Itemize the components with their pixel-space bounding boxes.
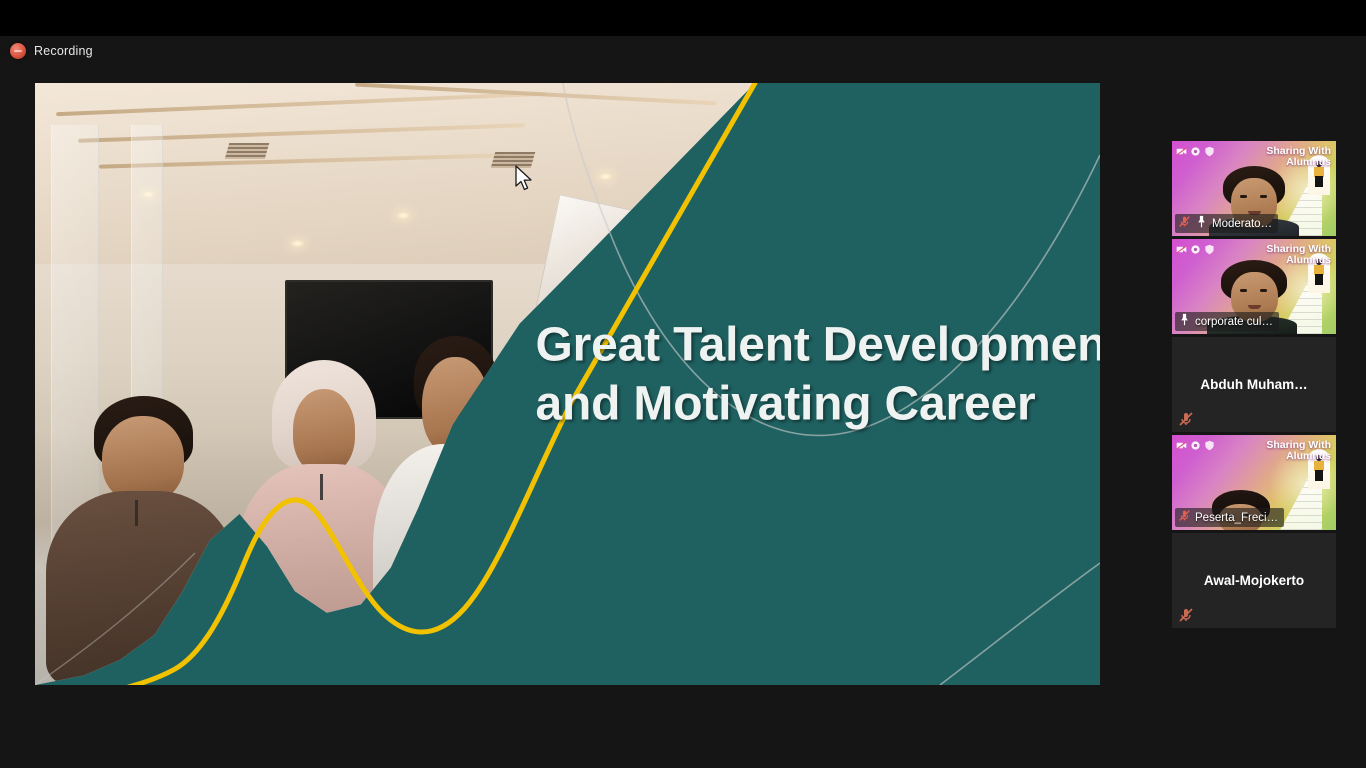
mic-muted-icon xyxy=(1178,607,1194,623)
recording-label: Recording xyxy=(34,44,93,58)
presentation-slide: Great Talent Development and Motivating … xyxy=(35,83,1100,685)
participant-tile-4[interactable]: Awal-Mojokerto xyxy=(1172,533,1336,628)
participant-name-0: Moderato… xyxy=(1212,218,1272,230)
pin-icon xyxy=(1195,215,1208,233)
shield-icon xyxy=(1204,438,1215,449)
participant-tile-2[interactable]: Abduh Muham… xyxy=(1172,337,1336,432)
recording-icon xyxy=(10,43,26,59)
participant-name-bar-1: corporate cul… xyxy=(1175,312,1279,331)
slide-title-line-2: and Motivating Career xyxy=(536,375,1090,434)
tile-status-icons xyxy=(1176,144,1215,155)
gear-icon xyxy=(1190,242,1201,253)
participant-name-bar-3: Peserta_Freci… xyxy=(1175,508,1284,527)
gear-icon xyxy=(1190,438,1201,449)
slide-title-line-1: Great Talent Development xyxy=(536,316,1090,375)
video-icon xyxy=(1176,438,1187,449)
video-icon xyxy=(1176,144,1187,155)
window-title-bar xyxy=(0,0,1366,36)
mouse-cursor xyxy=(514,165,534,193)
mic-muted-icon xyxy=(1178,411,1194,427)
participant-tile-0[interactable]: Sharing With Alumnus xyxy=(1172,141,1336,236)
meeting-window: Recording xyxy=(0,0,1366,768)
participant-name-1: corporate cul… xyxy=(1195,316,1273,328)
participant-tile-1[interactable]: Sharing With Alumnus xyxy=(1172,239,1336,334)
tile-status-icons xyxy=(1176,438,1215,449)
gear-icon xyxy=(1190,144,1201,155)
decor-line-bottom-left xyxy=(35,553,195,685)
participant-name-3: Peserta_Freci… xyxy=(1195,512,1278,524)
participant-name-2: Abduh Muham… xyxy=(1194,377,1313,392)
slide-title: Great Talent Development and Motivating … xyxy=(536,316,1090,433)
virtual-background-text: Sharing With Alumnus xyxy=(1266,440,1331,463)
mic-muted-icon xyxy=(1178,509,1191,527)
shared-screen-area[interactable]: Great Talent Development and Motivating … xyxy=(35,83,1100,685)
participant-name-4: Awal-Mojokerto xyxy=(1198,573,1310,588)
recording-indicator: Recording xyxy=(10,40,93,62)
pin-icon xyxy=(1178,313,1191,331)
participant-tile-3[interactable]: Sharing With Alumnus xyxy=(1172,435,1336,530)
vb-text-line-2: Alumnus xyxy=(1266,451,1331,462)
participant-filmstrip[interactable]: Sharing With Alumnus xyxy=(1172,141,1336,628)
tile-status-icons xyxy=(1176,242,1215,253)
decor-line-bottom-right xyxy=(940,563,1100,685)
shield-icon xyxy=(1204,144,1215,155)
video-icon xyxy=(1176,242,1187,253)
participant-name-bar-0: Moderato… xyxy=(1175,214,1278,233)
shield-icon xyxy=(1204,242,1215,253)
mic-muted-icon xyxy=(1178,215,1191,233)
